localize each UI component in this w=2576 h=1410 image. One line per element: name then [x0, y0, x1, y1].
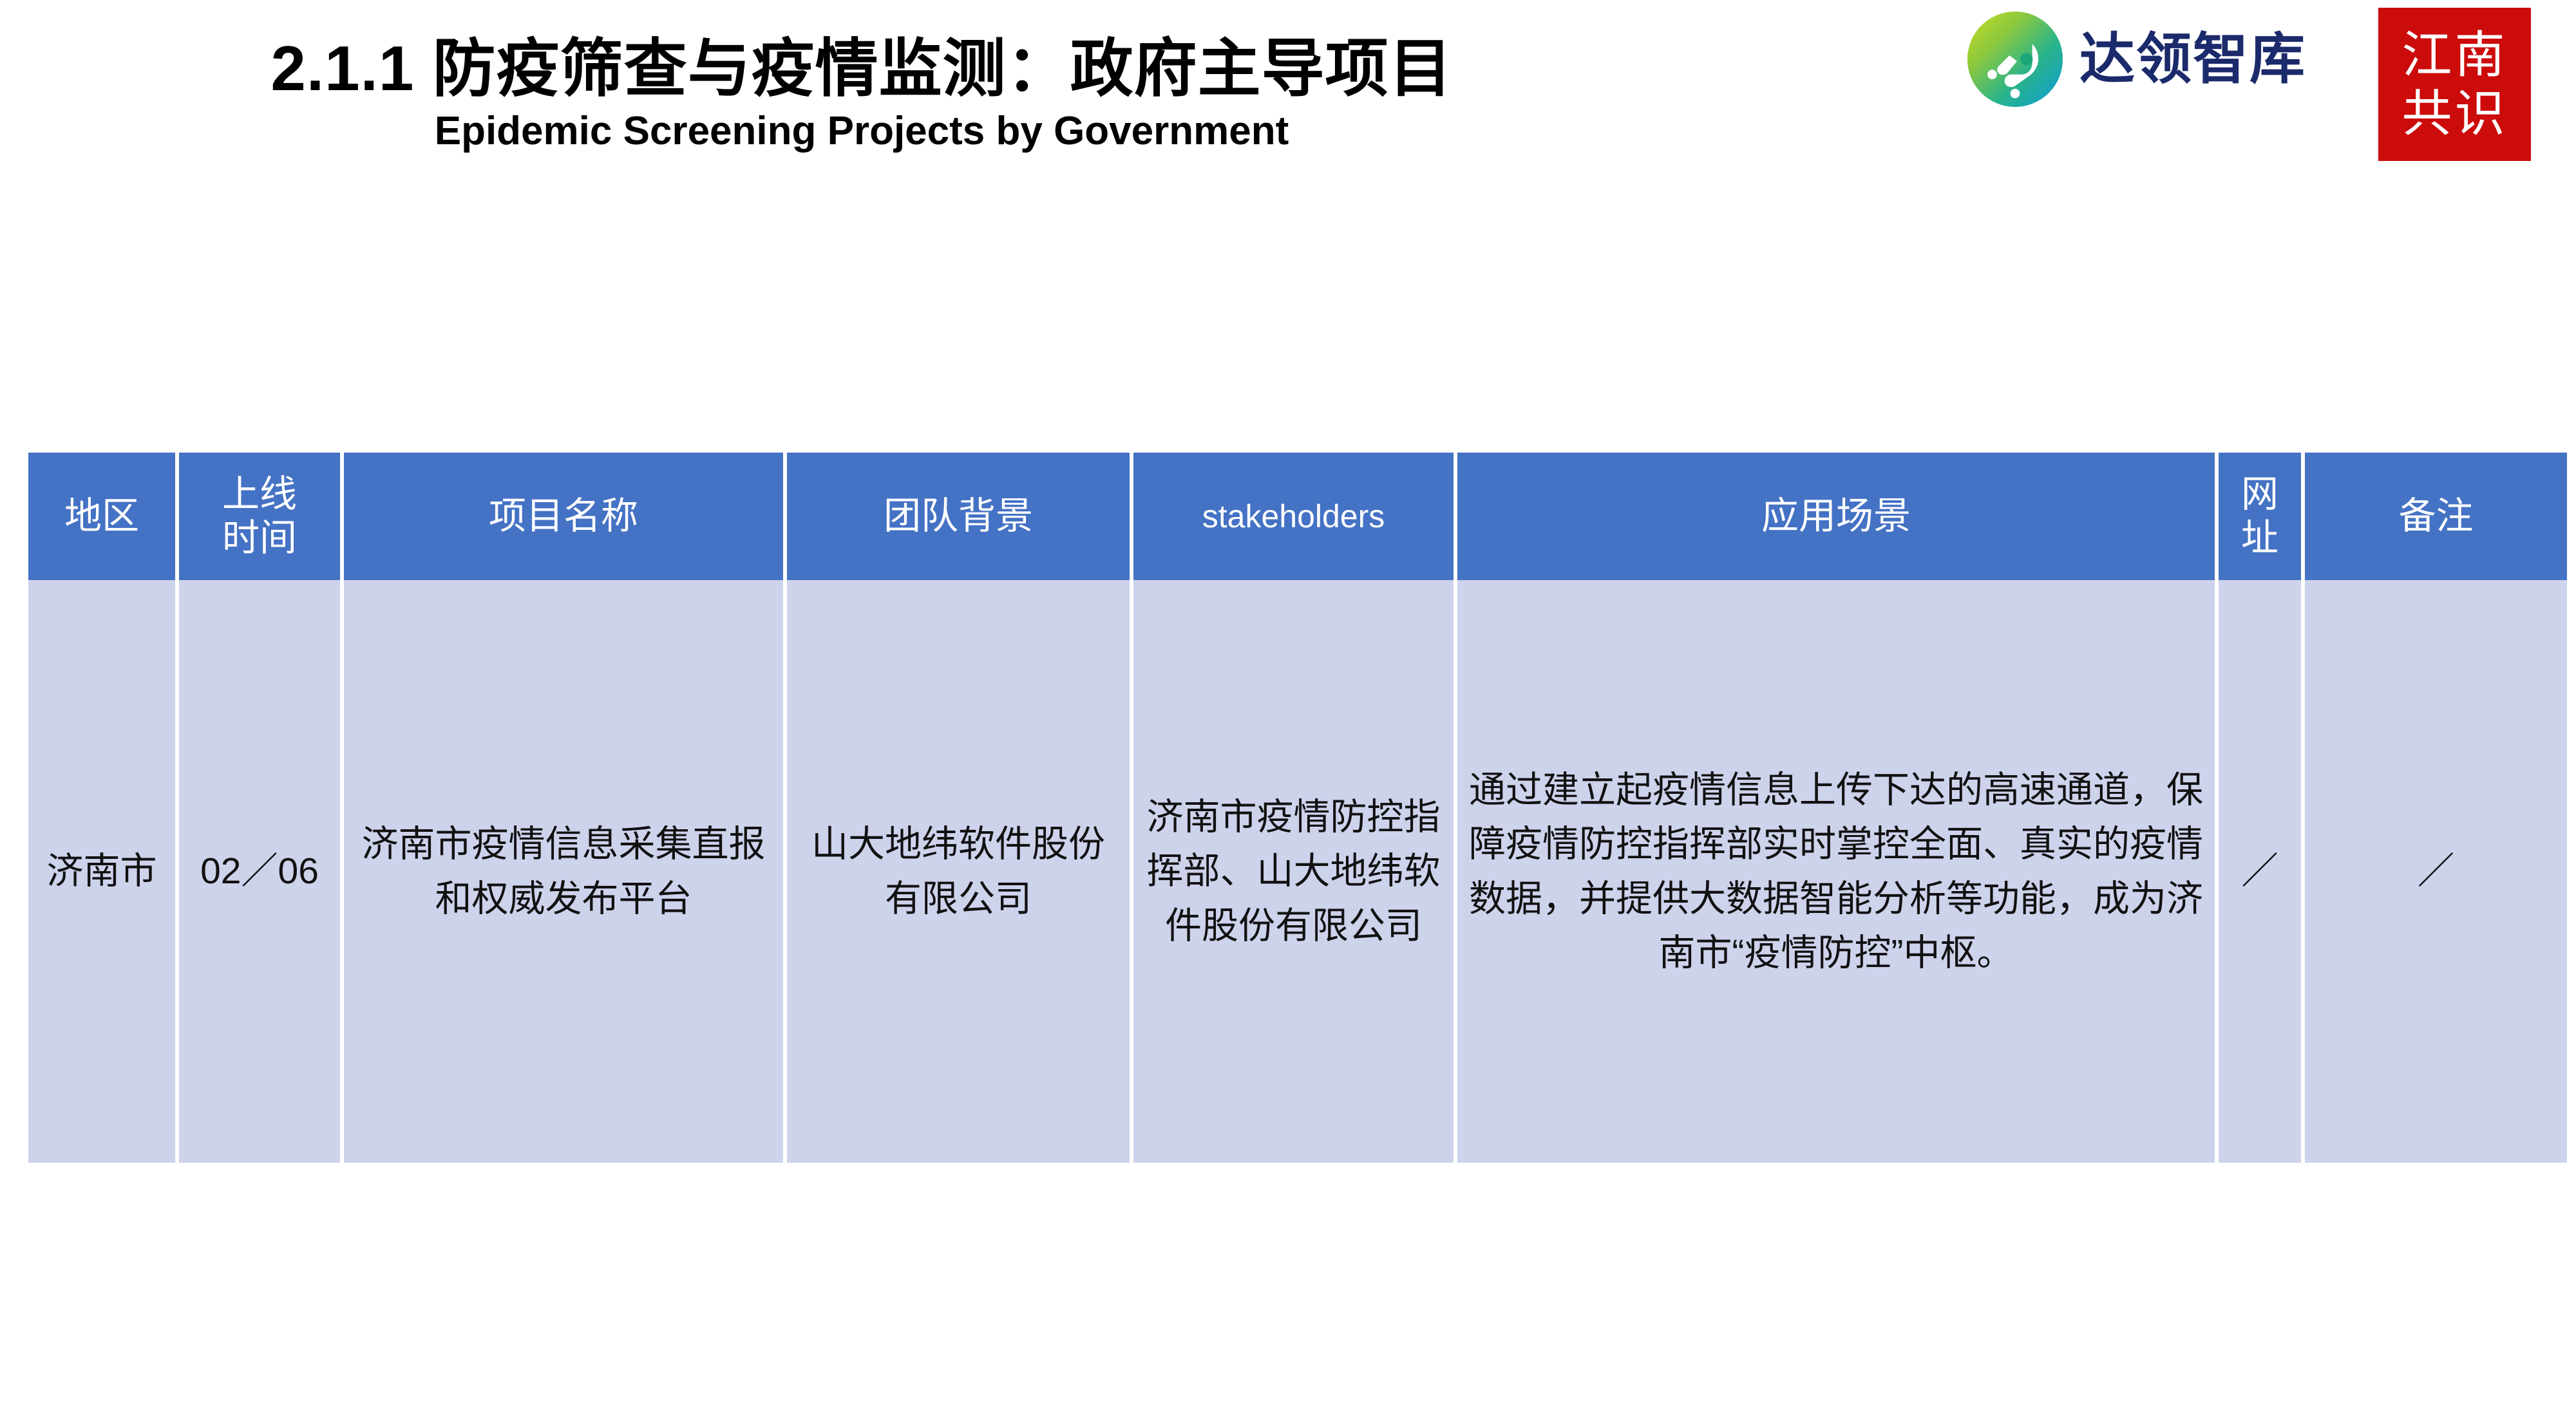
table-row: 济南市 02／06 济南市疫情信息采集直报和权威发布平台 山大地纬软件股份有限公…	[28, 580, 2567, 1163]
column-header-url-line2: 址	[2222, 516, 2297, 560]
projects-table-wrapper: 地区 上线 时间 项目名称 团队背景 stakeholders 应用场景 网 址…	[24, 453, 2570, 1163]
jiangnan-consensus-seal: 江南 共识	[2378, 8, 2531, 161]
column-header-launch-date: 上线 时间	[179, 453, 340, 580]
page-subtitle: Epidemic Screening Projects by Governmen…	[121, 108, 1602, 154]
table-body: 济南市 02／06 济南市疫情信息采集直报和权威发布平台 山大地纬软件股份有限公…	[28, 580, 2567, 1163]
cell-stakeholders: 济南市疫情防控指挥部、山大地纬软件股份有限公司	[1133, 580, 1454, 1163]
slide-header: 2.1.1 防疫筛查与疫情监测：政府主导项目 Epidemic Screenin…	[0, 0, 2576, 212]
column-header-remark: 备注	[2305, 453, 2567, 580]
column-header-launch-date-line1: 上线	[183, 473, 336, 516]
column-header-region: 地区	[28, 453, 175, 580]
cell-launch-date: 02／06	[179, 580, 340, 1163]
column-header-url-line1: 网	[2222, 473, 2297, 516]
seal-line-2: 共识	[2401, 86, 2507, 142]
page-title: 2.1.1 防疫筛查与疫情监测：政府主导项目	[121, 33, 1602, 104]
daling-circle-mark-icon	[1967, 12, 2063, 107]
projects-table: 地区 上线 时间 项目名称 团队背景 stakeholders 应用场景 网 址…	[24, 453, 2571, 1163]
title-block: 2.1.1 防疫筛查与疫情监测：政府主导项目 Epidemic Screenin…	[121, 33, 1602, 154]
column-header-url: 网 址	[2219, 453, 2301, 580]
cell-remark: ／	[2305, 580, 2567, 1163]
brand-name: 达领智库	[2079, 32, 2306, 87]
cell-project-name: 济南市疫情信息采集直报和权威发布平台	[344, 580, 783, 1163]
cell-region: 济南市	[28, 580, 175, 1163]
column-header-project-name: 项目名称	[344, 453, 783, 580]
column-header-team-background: 团队背景	[787, 453, 1130, 580]
table-header-row-group: 地区 上线 时间 项目名称 团队背景 stakeholders 应用场景 网 址…	[28, 453, 2567, 580]
brand-logo: 达领智库	[1967, 12, 2306, 107]
seal-line-1: 江南	[2401, 27, 2507, 83]
column-header-application-scenario: 应用场景	[1457, 453, 2215, 580]
column-header-launch-date-line2: 时间	[183, 516, 336, 560]
cell-team-background: 山大地纬软件股份有限公司	[787, 580, 1130, 1163]
table-header-row: 地区 上线 时间 项目名称 团队背景 stakeholders 应用场景 网 址…	[28, 453, 2567, 580]
column-header-stakeholders: stakeholders	[1133, 453, 1454, 580]
cell-application-scenario: 通过建立起疫情信息上传下达的高速通道，保障疫情防控指挥部实时掌控全面、真实的疫情…	[1457, 580, 2215, 1163]
cell-url: ／	[2219, 580, 2301, 1163]
